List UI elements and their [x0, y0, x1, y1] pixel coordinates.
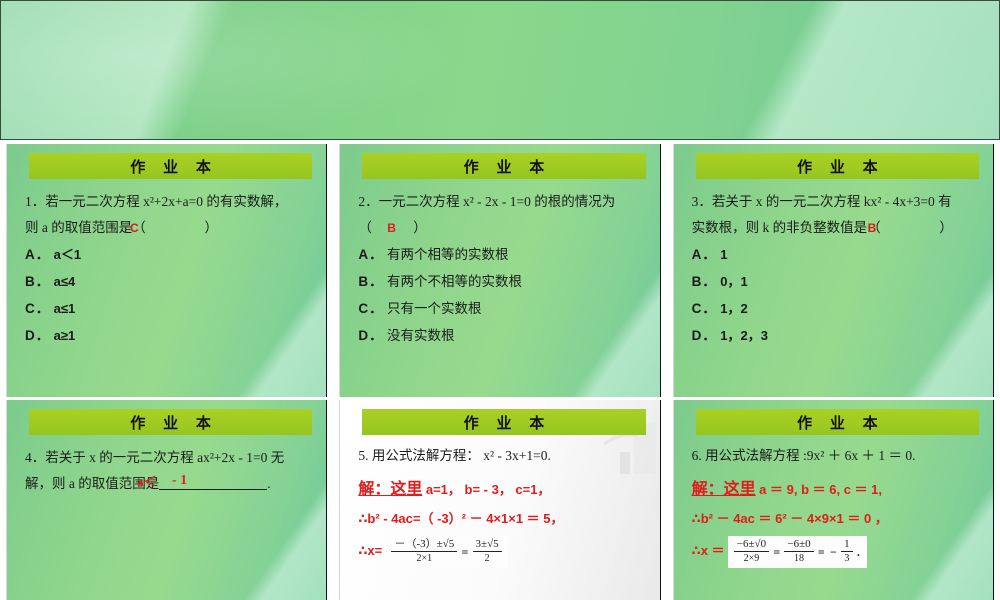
- option-1-b-text: a≤4: [54, 274, 76, 289]
- question-panel-4[interactable]: 作 业 本 4．若关于 x 的一元二次方程 ax²+2x - 1=0 无 解，则…: [6, 400, 327, 600]
- solution-6-fraction-1-denominator: 2×9: [734, 552, 769, 565]
- option-1-c[interactable]: C． a≤1: [25, 296, 312, 322]
- answer-mark-3: B: [868, 222, 877, 234]
- question-panel-6[interactable]: 作 业 本 6. 用公式法解方程 :9x² ＋ 6x ＋ 1 ＝ 0. 解：这里…: [673, 400, 994, 600]
- solution-6-equals-1: =: [772, 541, 781, 563]
- solution-5-x-prefix: ∴x=: [358, 543, 382, 558]
- question-panel-5[interactable]: 作 业 本 5. 用公式法解方程： x² - 3x+1=0. 解：这里 a=1，…: [339, 400, 660, 600]
- solution-6-prefix: 解：这里: [692, 481, 756, 498]
- option-3-d-text: 1，2，3: [720, 328, 768, 343]
- question-1-line-2-close: ）: [205, 220, 219, 235]
- question-panel-grid: 作 业 本 1．若一元二次方程 x²+2x+a=0 的有实数解， 则 a 的取值…: [0, 141, 1000, 600]
- solution-6-equals-2: =: [817, 541, 826, 563]
- option-3-b-mark: B．: [692, 274, 717, 289]
- option-1-a-mark: A．: [25, 247, 50, 262]
- solution-6-fraction-3-sign: −: [829, 541, 838, 563]
- option-2-c[interactable]: C． 只有一个实数根: [358, 296, 645, 322]
- option-2-a-text: 有两个相等的实数根: [387, 247, 509, 262]
- option-2-a[interactable]: A． 有两个相等的实数根: [358, 242, 645, 268]
- question-body-4: 4．若关于 x 的一元二次方程 ax²+2x - 1=0 无 解，则 a 的取值…: [7, 435, 326, 497]
- option-3-d-mark: D．: [692, 328, 717, 343]
- option-2-b[interactable]: B． 有两个不相等的实数根: [358, 269, 645, 295]
- solution-6-fraction-3-denominator: 3: [841, 552, 853, 565]
- option-3-c[interactable]: C． 1，2: [692, 296, 979, 322]
- question-2-line-2: （ B ）: [358, 215, 645, 241]
- solution-5-prefix: 解：这里: [358, 481, 422, 498]
- option-1-d-text: a≥1: [54, 328, 76, 343]
- option-3-a-mark: A．: [692, 247, 717, 262]
- question-4-period: .: [267, 476, 270, 491]
- solution-5-equals: =: [460, 541, 469, 563]
- option-3-c-mark: C．: [692, 301, 717, 316]
- option-1-a-text: a＜1: [54, 247, 81, 262]
- option-3-b[interactable]: B． 0，1: [692, 269, 979, 295]
- workbook-header-4: 作 业 本: [29, 409, 312, 435]
- answer-blank-4[interactable]: [159, 489, 267, 490]
- answer-mark-1: C: [130, 222, 139, 234]
- solution-6-line-2: ∴b² － 4ac ＝ 6² － 4×9×1 ＝ 0 ，: [692, 508, 979, 530]
- option-2-a-mark: A．: [358, 247, 383, 262]
- solution-5-fraction-1-denominator: 2×1: [391, 552, 457, 565]
- workbook-header-label-5: 作 业 本: [457, 412, 552, 433]
- question-1-line-2: 则 a 的取值范围是（ ） C: [25, 215, 312, 241]
- option-2-c-mark: C．: [358, 301, 383, 316]
- workbook-header-label-4: 作 业 本: [123, 412, 218, 433]
- solution-6-fraction-3-numerator: 1: [841, 538, 853, 552]
- solution-5-line-1: 解：这里 a=1， b= - 3， c=1，: [358, 479, 645, 502]
- option-2-b-text: 有两个不相等的实数根: [387, 274, 522, 289]
- solution-5-line-2: ∴b² - 4ac=（ -3）² － 4×1×1 ＝ 5，: [358, 508, 645, 530]
- option-1-b-mark: B．: [25, 274, 50, 289]
- solution-5-fraction-1: －（-3）±√5 2×1: [391, 538, 457, 565]
- solution-6-fraction-2-denominator: 18: [784, 552, 813, 565]
- question-3-line-2-text: 实数根，则 k 的非负整数值是（: [692, 220, 881, 235]
- question-4-line-1: 4．若关于 x 的一元二次方程 ax²+2x - 1=0 无: [25, 445, 312, 471]
- question-panel-2[interactable]: 作 业 本 2．一元二次方程 x² - 2x - 1=0 的根的情况为 （ B …: [339, 144, 660, 397]
- solution-6-fraction-3: 1 3: [841, 538, 853, 565]
- option-1-d-mark: D．: [25, 328, 50, 343]
- solution-5-values: a=1， b= - 3， c=1，: [426, 482, 551, 497]
- solution-6-line-1: 解：这里 a ＝ 9, b ＝ 6, c ＝ 1,: [692, 479, 979, 502]
- solution-6-fraction-2-numerator: −6±0: [784, 538, 813, 552]
- question-body-5: 5. 用公式法解方程： x² - 3x+1=0. 解：这里 a=1， b= - …: [340, 435, 659, 568]
- workbook-header-1: 作 业 本: [29, 153, 312, 179]
- banner-highlight-decoration: [0, 0, 500, 140]
- question-body-2: 2．一元二次方程 x² - 2x - 1=0 的根的情况为 （ B ） A． 有…: [340, 179, 659, 349]
- option-1-b[interactable]: B． a≤4: [25, 269, 312, 295]
- option-3-b-text: 0，1: [720, 274, 747, 289]
- solution-6-values: a ＝ 9, b ＝ 6, c ＝ 1,: [759, 482, 882, 497]
- solution-6-fraction-2: −6±0 18: [784, 538, 813, 565]
- solution-6-result-box: −6±√0 2×9 = −6±0 18 = − 1 3: [728, 536, 867, 568]
- option-3-c-text: 1，2: [720, 301, 747, 316]
- question-panel-1[interactable]: 作 业 本 1．若一元二次方程 x²+2x+a=0 的有实数解， 则 a 的取值…: [6, 144, 327, 397]
- option-1-c-text: a≤1: [54, 301, 76, 316]
- workbook-header-label-2: 作 业 本: [457, 156, 552, 177]
- question-3-line-2-close: ）: [939, 220, 953, 235]
- solution-6-x-prefix: ∴x ＝: [692, 543, 725, 558]
- question-3-line-2: 实数根，则 k 的非负整数值是（ ） B: [692, 215, 979, 241]
- question-3-line-1: 3．若关于 x 的一元二次方程 kx² - 4x+3=0 有: [692, 189, 979, 215]
- solution-5-fraction-2: 3±√5 2: [473, 538, 502, 565]
- workbook-header-label-3: 作 业 本: [790, 156, 885, 177]
- question-body-6: 6. 用公式法解方程 :9x² ＋ 6x ＋ 1 ＝ 0. 解：这里 a ＝ 9…: [674, 435, 993, 568]
- workbook-header-label-6: 作 业 本: [790, 412, 885, 433]
- solution-6-fraction-1: −6±√0 2×9: [734, 538, 769, 565]
- option-2-d-mark: D．: [358, 328, 383, 343]
- option-1-a[interactable]: A． a＜1: [25, 242, 312, 268]
- question-2-line-1: 2．一元二次方程 x² - 2x - 1=0 的根的情况为: [358, 189, 645, 215]
- slide-root: 作 业 本 1．若一元二次方程 x²+2x+a=0 的有实数解， 则 a 的取值…: [0, 0, 1000, 600]
- question-2-line-2-open: （: [358, 220, 372, 235]
- option-3-d[interactable]: D． 1，2，3: [692, 323, 979, 349]
- question-5-prompt: 5. 用公式法解方程： x² - 3x+1=0.: [358, 445, 645, 467]
- workbook-header-2: 作 业 本: [362, 153, 645, 179]
- question-1-line-1: 1．若一元二次方程 x²+2x+a=0 的有实数解，: [25, 189, 312, 215]
- question-body-3: 3．若关于 x 的一元二次方程 kx² - 4x+3=0 有 实数根，则 k 的…: [674, 179, 993, 349]
- question-2-line-2-close: ）: [413, 220, 427, 235]
- workbook-header-label-1: 作 业 本: [123, 156, 218, 177]
- option-1-c-mark: C．: [25, 301, 50, 316]
- question-4-line-2: 解，则 a 的取值范围是. a＜ - 1: [25, 471, 312, 497]
- option-2-d-text: 没有实数根: [387, 328, 455, 343]
- option-2-d[interactable]: D． 没有实数根: [358, 323, 645, 349]
- workbook-header-3: 作 业 本: [696, 153, 979, 179]
- question-1-line-2-text: 则 a 的取值范围是（: [25, 220, 146, 235]
- option-3-a[interactable]: A． 1: [692, 242, 979, 268]
- solution-6-fraction-1-numerator: −6±√0: [734, 538, 769, 552]
- handwritten-answer-4-part1: a＜: [137, 475, 157, 488]
- solution-5-fraction-2-denominator: 2: [473, 552, 502, 565]
- option-2-c-text: 只有一个实数根: [387, 301, 482, 316]
- option-3-a-text: 1: [720, 247, 727, 262]
- question-body-1: 1．若一元二次方程 x²+2x+a=0 的有实数解， 则 a 的取值范围是（ ）…: [7, 179, 326, 349]
- question-6-prompt: 6. 用公式法解方程 :9x² ＋ 6x ＋ 1 ＝ 0.: [692, 445, 979, 467]
- solution-5-result-box: －（-3）±√5 2×1 = 3±√5 2: [385, 536, 507, 568]
- option-1-d[interactable]: D． a≥1: [25, 323, 312, 349]
- workbook-header-5: 作 业 本: [362, 409, 645, 435]
- workbook-header-6: 作 业 本: [696, 409, 979, 435]
- answer-mark-2: B: [375, 221, 410, 235]
- solution-6-line-3: ∴x ＝ −6±√0 2×9 = −6±0 18 = −: [692, 536, 979, 568]
- solution-5-fraction-2-numerator: 3±√5: [473, 538, 502, 552]
- question-panel-3[interactable]: 作 业 本 3．若关于 x 的一元二次方程 kx² - 4x+3=0 有 实数根…: [673, 144, 994, 397]
- solution-5-fraction-1-numerator: －（-3）±√5: [391, 538, 457, 552]
- solution-5-line-3: ∴x= －（-3）±√5 2×1 = 3±√5 2: [358, 536, 645, 568]
- option-2-b-mark: B．: [358, 274, 383, 289]
- slide-top-banner: [0, 0, 1000, 140]
- solution-6-tail: .: [856, 541, 861, 563]
- handwritten-answer-4-part2: - 1: [172, 474, 187, 488]
